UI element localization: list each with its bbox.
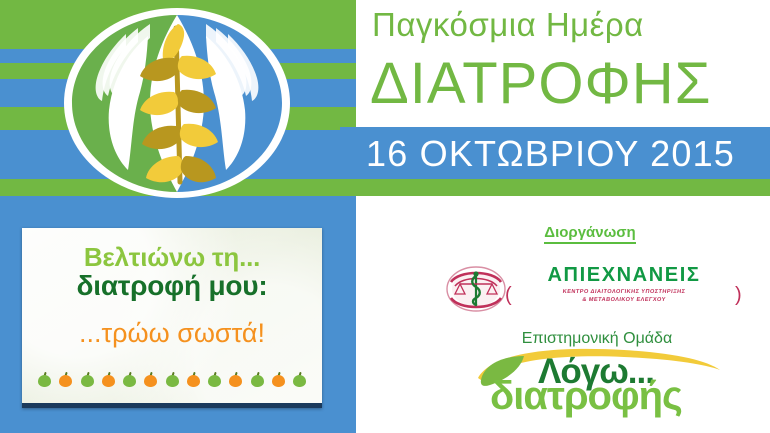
organizers-heading: Διοργάνωση: [430, 224, 750, 241]
apple-row: [38, 368, 306, 390]
poster-line-3: ...τρώω σωστά!: [22, 318, 322, 349]
logo-diatrofis: Επιστημονική Ομάδα Λόγω... διατροφής: [452, 330, 742, 416]
apple-icon: [144, 372, 157, 387]
apple-icon: [293, 372, 306, 387]
poster-line-1: Βελτιώνω τη...: [22, 242, 322, 273]
apple-icon: [187, 372, 200, 387]
apple-icon: [272, 372, 285, 387]
apple-icon: [208, 372, 221, 387]
page-title-line1: Παγκόσμια Ημέρα: [372, 4, 766, 46]
poster-line-2: διατροφή μου:: [22, 270, 322, 302]
green-underline-band: [356, 179, 770, 196]
apple-icon: [81, 372, 94, 387]
hands-wheat-emblem: [62, 6, 292, 200]
apple-icon: [251, 372, 264, 387]
apple-icon: [59, 372, 72, 387]
apple-icon: [123, 372, 136, 387]
apiechnaneis-logo: ΑΠΙΕΧΝΑΝΕΙΣ ( ) ΚΕΝΤΡΟ ΔΙΑΙΤΟΛΟΓΙΚΗΣ ΥΠΟ…: [443, 258, 743, 320]
banner-root: Παγκόσμια Ημέρα ΔΙΑΤΡΟΦΗΣ 16 ΟΚΤΩΒΡΙΟΥ 2…: [0, 0, 770, 433]
apple-icon: [102, 372, 115, 387]
caduceus-scales-icon: [445, 260, 507, 315]
apiechnaneis-subtitle-line1: ΚΕΝΤΡΟ ΔΙΑΙΤΟΛΟΓΙΚΗΣ ΥΠΟΣΤΗΡΙΞΗΣ: [509, 289, 740, 295]
apple-icon: [38, 372, 51, 387]
apple-icon: [229, 372, 242, 387]
campaign-poster: Βελτιώνω τη... διατροφή μου: ...τρώω σωσ…: [22, 228, 322, 408]
poster-footer-bar: [22, 403, 322, 408]
logo-word-diatrofis: διατροφής: [490, 374, 682, 419]
organizers-heading-text: Διοργάνωση: [544, 224, 635, 244]
event-date: 16 ΟΚΤΩΒΡΙΟΥ 2015: [366, 132, 766, 176]
apple-icon: [166, 372, 179, 387]
apiechnaneis-name: ΑΠΙΕΧΝΑΝΕΙΣ: [509, 264, 739, 287]
page-title-line2: ΔΙΑΤΡΟΦΗΣ: [370, 48, 770, 120]
apiechnaneis-subtitle-line2: & ΜΕΤΑΒΟΛΙΚΟΥ ΕΛΕΓΧΟΥ: [509, 297, 740, 303]
